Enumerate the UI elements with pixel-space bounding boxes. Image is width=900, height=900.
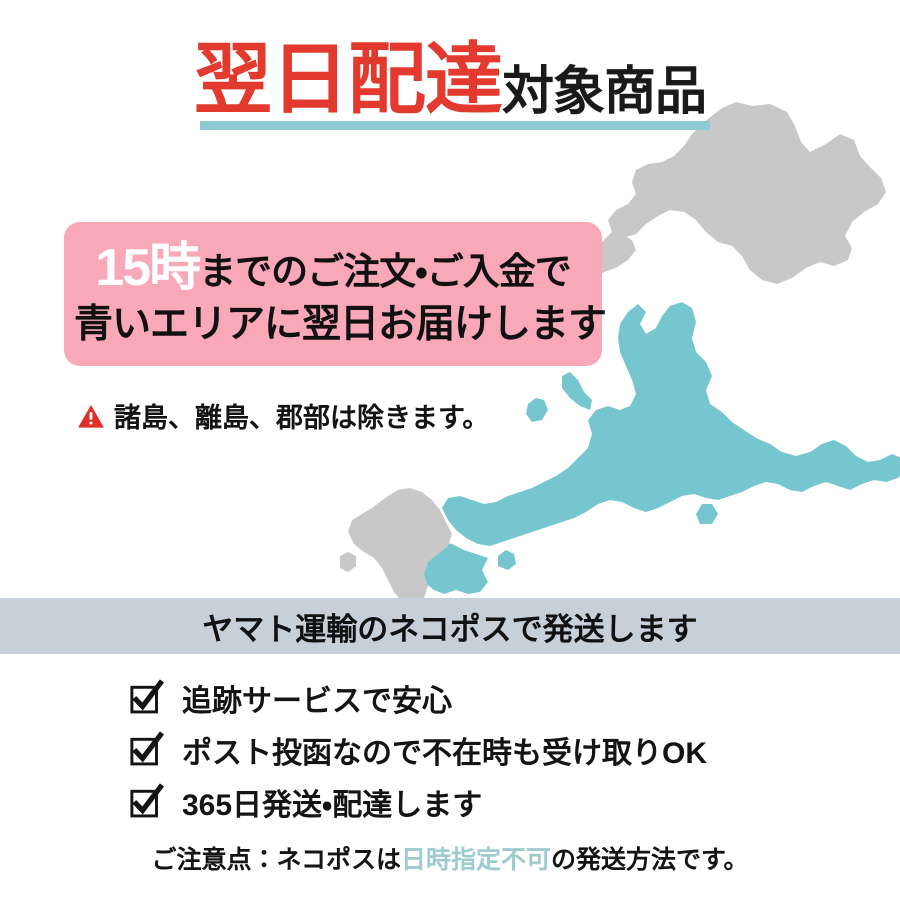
list-item: 365日発送・配達します (128, 776, 788, 828)
list-item: 追跡サービスで安心 (128, 672, 788, 724)
list-item-label: ポスト投函なので不在時も受け取りOK (182, 728, 707, 772)
map-region-awaji-island (498, 550, 516, 570)
title-underline (200, 121, 710, 130)
exclusion-warning: 諸島、離島、郡部は除きます。 (78, 396, 489, 435)
footer-note-prefix: ご注意点：ネコポスは (151, 846, 401, 874)
cutoff-time-suffix: までのご注文・ご入金で (199, 251, 571, 292)
list-item: ポスト投函なので不在時も受け取りOK (128, 724, 788, 776)
list-item-label: 追跡サービスで安心 (182, 676, 452, 720)
delivery-info-graphic: 翌日配達対象商品 15時までのご注文・ご入金で 青いエリアに翌日お届けします 諸… (0, 0, 900, 900)
exclusion-warning-text: 諸島、離島、郡部は除きます。 (114, 396, 489, 435)
feature-list: 追跡サービスで安心 ポスト投函なので不在時も受け取りOK 365日発送・配達しま… (128, 672, 788, 828)
cutoff-time-value: 15時 (95, 239, 199, 297)
footer-note: ご注意点：ネコポスは日時指定不可の発送方法です。 (0, 840, 900, 876)
map-region-goto-islands (340, 552, 356, 572)
carrier-banner: ヤマト運輸のネコポスで発送します (0, 598, 900, 654)
page-title-sub: 対象商品 (502, 63, 706, 123)
warning-triangle-icon (78, 404, 104, 428)
callout-line-2: 青いエリアに翌日お届けします (74, 304, 592, 346)
delivery-area-statement: 青いエリアに翌日お届けします (74, 303, 606, 346)
map-region-izu-peninsula (696, 504, 718, 524)
map-region-sado-island (526, 398, 548, 422)
carrier-banner-text: ヤマト運輸のネコポスで発送します (202, 604, 697, 649)
footer-note-suffix: の発送方法です。 (551, 846, 749, 874)
page-title: 翌日配達対象商品 (0, 40, 900, 119)
cutoff-time-callout: 15時までのご注文・ご入金で 青いエリアに翌日お届けします (64, 222, 602, 366)
footer-note-accent: 日時指定不可 (401, 846, 551, 874)
callout-line-1: 15時までのご注文・ご入金で (74, 240, 592, 296)
page-title-main: 翌日配達 (194, 35, 502, 123)
checkbox-checked-icon (128, 681, 162, 715)
list-item-label: 365日発送・配達します (182, 780, 482, 824)
checkbox-checked-icon (128, 733, 162, 767)
checkbox-checked-icon (128, 785, 162, 819)
map-region-noto-peninsula (562, 372, 592, 410)
